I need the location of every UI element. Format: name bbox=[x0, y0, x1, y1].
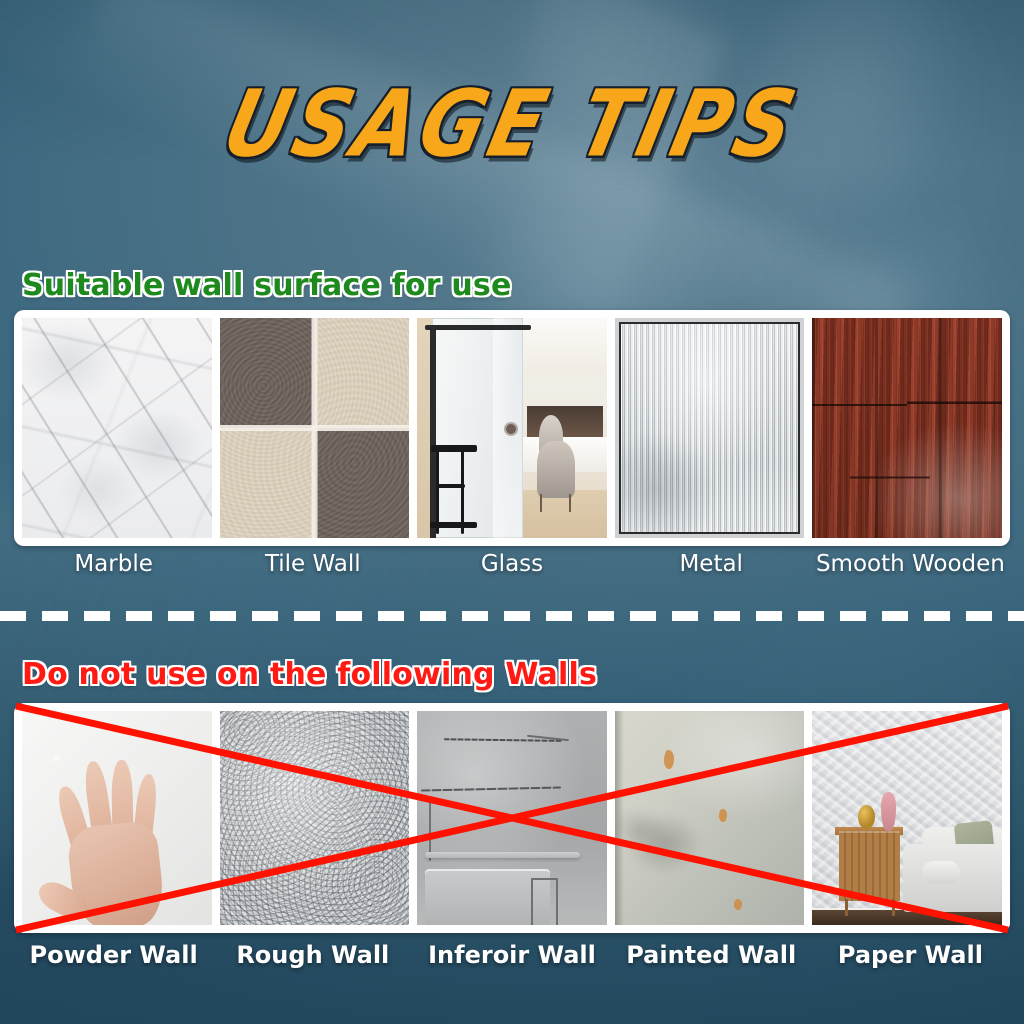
surface-thumb-powder-wall bbox=[22, 711, 212, 925]
label-inferior-wall: Inferoir Wall bbox=[412, 941, 611, 969]
surface-thumb-painted-wall bbox=[615, 711, 805, 925]
label-smooth-wooden: Smooth Wooden bbox=[811, 551, 1010, 577]
forbidden-surfaces-card bbox=[14, 703, 1010, 933]
surface-thumb-metal bbox=[615, 318, 805, 538]
surface-thumb-rough-wall bbox=[220, 711, 410, 925]
hand-illustration bbox=[64, 745, 185, 925]
label-painted-wall: Painted Wall bbox=[612, 941, 811, 969]
forbidden-section-heading: Do not use on the following Walls bbox=[22, 657, 597, 692]
suitable-surfaces-card bbox=[14, 310, 1010, 546]
label-tile-wall: Tile Wall bbox=[213, 551, 412, 577]
label-powder-wall: Powder Wall bbox=[14, 941, 213, 969]
surface-thumb-tile-wall bbox=[220, 318, 410, 538]
label-rough-wall: Rough Wall bbox=[213, 941, 412, 969]
surface-thumb-marble bbox=[22, 318, 212, 538]
suitable-section-heading: Suitable wall surface for use bbox=[22, 268, 512, 303]
dashed-divider bbox=[0, 611, 1024, 621]
surface-thumb-glass bbox=[417, 318, 607, 538]
label-metal: Metal bbox=[612, 551, 811, 577]
surface-thumb-paper-wall bbox=[812, 711, 1002, 925]
stool-shape bbox=[429, 439, 482, 536]
label-glass: Glass bbox=[412, 551, 611, 577]
suitable-labels-row: Marble Tile Wall Glass Metal Smooth Wood… bbox=[14, 551, 1010, 577]
title-banner: USAGE TIPS bbox=[0, 86, 1024, 164]
surface-thumb-smooth-wooden bbox=[812, 318, 1002, 538]
surface-thumb-inferior-wall bbox=[417, 711, 607, 925]
label-marble: Marble bbox=[14, 551, 213, 577]
usage-tips-infographic: USAGE TIPS Suitable wall surface for use bbox=[0, 0, 1024, 1024]
forbidden-labels-row: Powder Wall Rough Wall Inferoir Wall Pai… bbox=[14, 941, 1010, 969]
label-paper-wall: Paper Wall bbox=[811, 941, 1010, 969]
page-title: USAGE TIPS bbox=[216, 79, 807, 171]
